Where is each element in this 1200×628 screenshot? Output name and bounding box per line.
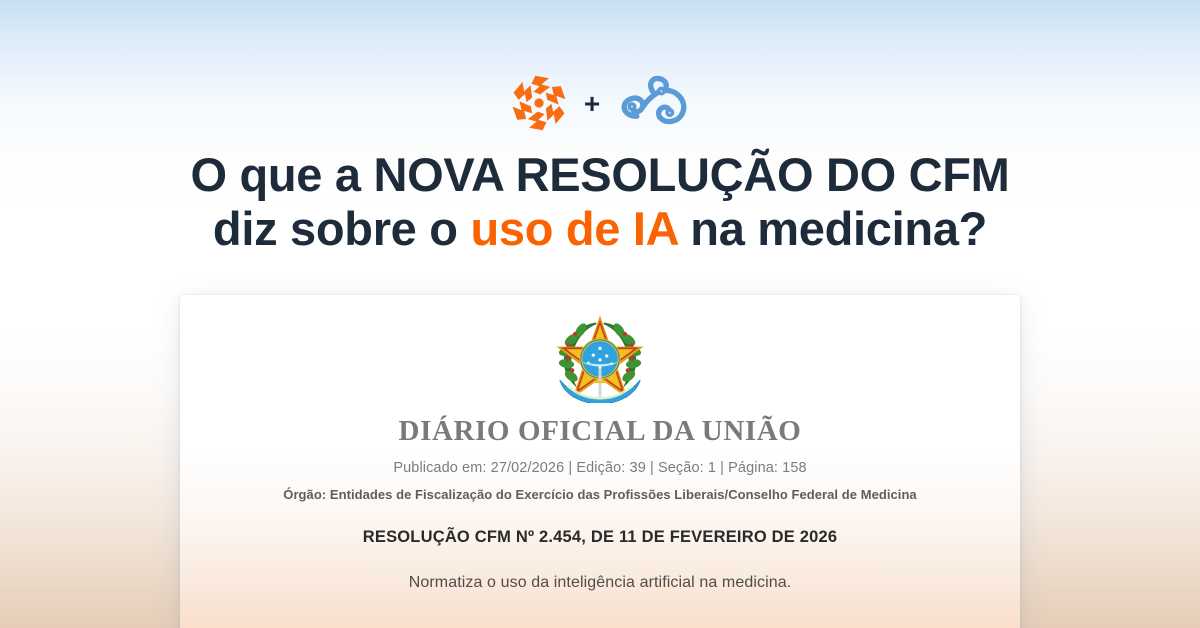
page-title: O que a NOVA RESOLUÇÃO DO CFM diz sobre … bbox=[0, 148, 1200, 255]
document-organ: Órgão: Entidades de Fiscalização do Exer… bbox=[180, 487, 1020, 502]
headline-line-2-suffix: na medicina? bbox=[678, 202, 988, 255]
brazil-coat-of-arms-icon bbox=[180, 311, 1020, 403]
document-title: DIÁRIO OFICIAL DA UNIÃO bbox=[180, 415, 1020, 448]
promo-banner: + O que a NOVA RESOLUÇÃO DO CFM diz sobr… bbox=[0, 0, 1200, 628]
orange-pinwheel-logo bbox=[508, 72, 570, 134]
headline-accent: uso de IA bbox=[470, 202, 677, 255]
plus-separator: + bbox=[584, 90, 600, 118]
document-card: DIÁRIO OFICIAL DA UNIÃO Publicado em: 27… bbox=[180, 295, 1020, 628]
resolution-heading: RESOLUÇÃO CFM Nº 2.454, DE 11 DE FEVEREI… bbox=[180, 528, 1020, 547]
document-meta: Publicado em: 27/02/2026 | Edição: 39 | … bbox=[180, 460, 1020, 476]
logo-row: + bbox=[0, 68, 1200, 138]
headline-line-1: O que a NOVA RESOLUÇÃO DO CFM bbox=[0, 148, 1200, 202]
blue-infinity-circuit-logo bbox=[614, 72, 692, 134]
headline-line-2-prefix: diz sobre o bbox=[213, 202, 471, 255]
resolution-subtitle: Normatiza o uso da inteligência artifici… bbox=[180, 574, 1020, 592]
headline-line-2: diz sobre o uso de IA na medicina? bbox=[0, 202, 1200, 256]
